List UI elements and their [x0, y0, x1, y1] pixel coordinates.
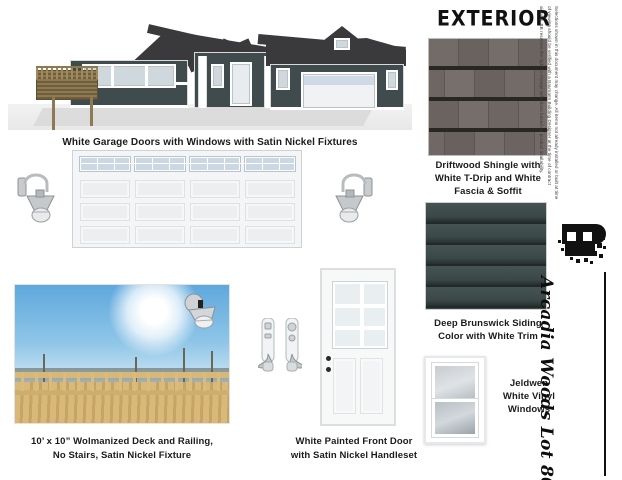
garage-lite-mullion [262, 157, 263, 171]
baluster [77, 372, 80, 391]
caption-door-line2: with Satin Nickel Handleset [244, 450, 464, 463]
baluster [105, 372, 108, 391]
garage-panel [80, 180, 130, 198]
door-lite-mullion-vertical [360, 284, 364, 346]
garage-lite [80, 157, 130, 171]
bare-tree [211, 351, 213, 384]
bare-tree [43, 354, 45, 384]
deck-rail-top [15, 372, 229, 378]
window-sash-lower [432, 399, 478, 437]
shingle-row [429, 101, 547, 130]
deck-photo [14, 284, 230, 424]
siding-board [426, 266, 546, 287]
garage-lite-mullion [207, 157, 208, 171]
window-between-gables [276, 68, 290, 90]
deck-floor-boards [15, 382, 229, 423]
shingle-row [429, 70, 547, 99]
shingle-tab [489, 101, 519, 130]
garage-panel [80, 226, 130, 244]
page-title: EXTERIOR [436, 6, 552, 35]
garage-lite-mullion [224, 157, 225, 171]
garage-lite [135, 157, 185, 171]
caption-shingle-line3: Fascia & Soffit [420, 186, 556, 199]
shingle-tab [429, 39, 459, 68]
baluster [133, 372, 136, 391]
door-deadbolt-bore [326, 356, 331, 361]
disclaimer-text: Selections shown in this document may ch… [538, 6, 560, 202]
dormer-window [334, 38, 350, 50]
window-mullion-a [111, 64, 114, 88]
garage-panel [135, 226, 185, 244]
siding-board [426, 203, 546, 224]
garage-door-swatch [72, 150, 302, 248]
garage-panel [190, 180, 240, 198]
shingle-tab [475, 132, 505, 156]
garage-lite-mullion [279, 157, 280, 171]
shingle-tab [505, 132, 535, 156]
caption-deck-line1: 10’ x 10” Wolmanized Deck and Railing, [10, 436, 234, 449]
shingle-row [429, 132, 547, 156]
garage-lite-row [76, 154, 298, 174]
baluster [63, 372, 66, 391]
garage-panel [190, 203, 240, 221]
shingle-tab [428, 132, 445, 156]
front-door-swatch [320, 268, 396, 426]
garage-lite-mullion [169, 157, 170, 171]
caption-shingle-line2: White T-Drip and White [420, 173, 556, 186]
shingle-tab [505, 70, 535, 99]
porch-column-left [198, 56, 207, 108]
handleset-icon [282, 318, 302, 376]
handleset-icon [258, 318, 278, 376]
baluster [119, 372, 122, 391]
garage-panel [245, 180, 295, 198]
bb-logo-icon [556, 218, 610, 274]
window-porch-side [211, 64, 224, 88]
baluster [189, 372, 192, 391]
shingle-tab [429, 101, 459, 130]
garage-door-lite-band [304, 76, 374, 85]
garage-panel-row [76, 201, 298, 223]
baluster [161, 372, 164, 391]
shingle-tab [428, 70, 445, 99]
house-elevation-rendering [8, 8, 412, 130]
shingle-swatch [428, 38, 548, 156]
baluster [175, 372, 178, 391]
caption-window-line2: White Vinyl [490, 391, 568, 404]
baluster [203, 372, 206, 391]
deck-railing-in-rendering [36, 66, 98, 80]
bb-pixel-logo [556, 218, 610, 274]
baluster [217, 372, 220, 391]
door-handle-bore [326, 367, 331, 372]
vinyl-window-swatch [424, 356, 486, 444]
shingle-row [429, 39, 547, 68]
ground-shadow [33, 108, 373, 126]
garage-panel-row [76, 178, 298, 200]
brand-label: Arcadia Woods Lot 80 [536, 276, 556, 476]
siding-board [426, 287, 546, 308]
barn-light-icon [181, 293, 221, 333]
shingle-tab [445, 70, 475, 99]
deck-post [52, 96, 55, 130]
window-sash-upper [432, 363, 478, 401]
garage-panel [190, 226, 240, 244]
caption-garage-doors: White Garage Doors with Windows with Sat… [40, 136, 380, 150]
siding-board [426, 245, 546, 266]
barn-light-icon [14, 168, 60, 224]
caption-deck-line2: No Stairs, Satin Nickel Fixture [10, 450, 234, 463]
window-mullion-b [145, 64, 148, 88]
garage-panel [135, 203, 185, 221]
baluster [49, 372, 52, 391]
baluster [147, 372, 150, 391]
caption-window-line3: Windows [490, 404, 568, 417]
deck-rail-bottom [15, 390, 229, 395]
garage-lite-mullion [152, 157, 153, 171]
deck-post [90, 96, 93, 126]
shingle-tab [445, 132, 475, 156]
door-panel-right [360, 358, 383, 414]
baluster [91, 372, 94, 391]
garage-lite [245, 157, 295, 171]
handleset-deadbolt [258, 318, 278, 376]
garage-panel [245, 226, 295, 244]
garage-panel [135, 180, 185, 198]
window-garage-side [386, 70, 398, 90]
siding-board [426, 224, 546, 245]
brand-underline [604, 272, 606, 476]
deck-barn-light-overlay [181, 293, 221, 333]
barn-light-left [14, 168, 60, 224]
baluster [21, 372, 24, 391]
garage-panel-row [76, 224, 298, 246]
shingle-tab [475, 70, 505, 99]
garage-lite [190, 157, 240, 171]
door-glass-lites [333, 282, 387, 348]
exterior-selection-board: White Garage Doors with Windows with Sat… [0, 0, 622, 480]
garage-lite-mullion [114, 157, 115, 171]
barn-light-right [330, 168, 376, 224]
shingle-tab [489, 39, 519, 68]
bare-tree [183, 348, 185, 384]
door-lite-mullion-horizontal [335, 326, 385, 330]
barn-light-icon [330, 168, 376, 224]
baluster [35, 372, 38, 391]
garage-panel [80, 203, 130, 221]
shingle-tab [459, 39, 489, 68]
handleset-lever [282, 318, 302, 376]
garage-panel [245, 203, 295, 221]
door-lite-mullion-horizontal [335, 304, 385, 308]
door-panel-left [333, 358, 356, 414]
entry-door-in-rendering [230, 62, 252, 106]
siding-swatch [425, 202, 547, 310]
caption-shingle-line1: Driftwood Shingle with [420, 160, 556, 173]
caption-window-line1: Jeldwen [490, 378, 568, 391]
shingle-tab [459, 101, 489, 130]
trim-left-wing-base [70, 105, 188, 108]
garage-lite-mullion [97, 157, 98, 171]
